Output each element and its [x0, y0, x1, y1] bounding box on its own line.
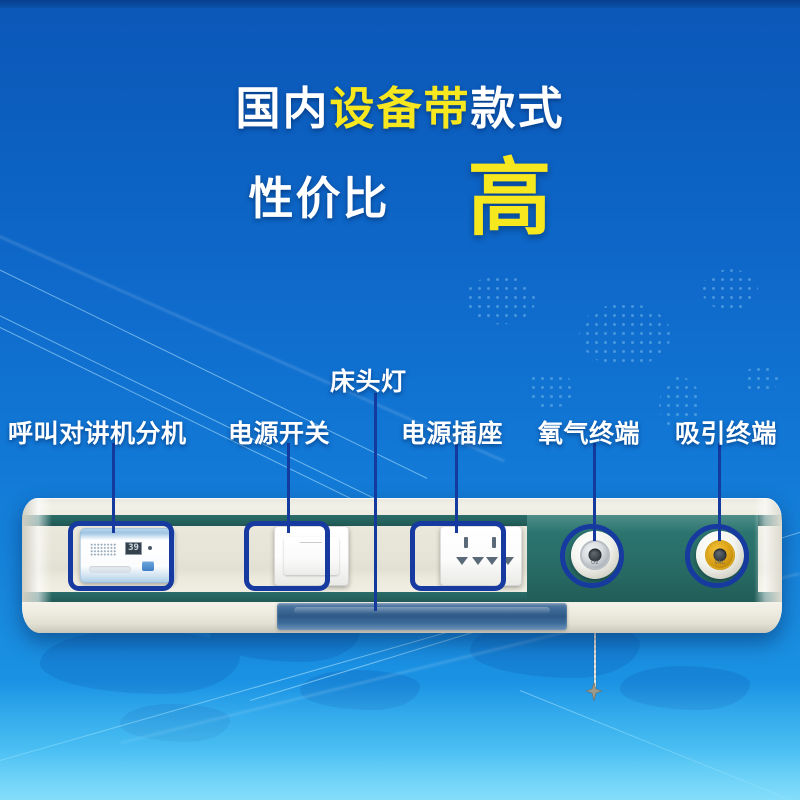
- callout-label-light-switch: 电源开关: [228, 414, 330, 450]
- highlight-box-switch: [244, 521, 330, 591]
- callout-label-nurse-call-intercom: 呼叫对讲机分机: [8, 414, 187, 450]
- highlight-circle-oxygen: [560, 524, 624, 588]
- highlight-box-socket: [410, 521, 506, 591]
- callout-label-power-socket: 电源插座: [401, 414, 503, 450]
- callout-label-oxygen-terminal: 氧气终端: [538, 414, 640, 450]
- callout-label-bedside-lamp: 床头灯: [330, 362, 407, 398]
- highlight-circle-suction: [685, 524, 749, 588]
- callout-labels: 呼叫对讲机分机 电源开关 床头灯 电源插座 氧气终端 吸引终端: [0, 0, 800, 800]
- highlight-box-intercom: [68, 521, 174, 591]
- callout-label-suction-terminal: 吸引终端: [675, 414, 777, 450]
- promo-banner: 国内设备带款式 性价比 高 呼叫对讲机分机 电源开关 床头灯 电源插座 氧气终端…: [0, 0, 800, 800]
